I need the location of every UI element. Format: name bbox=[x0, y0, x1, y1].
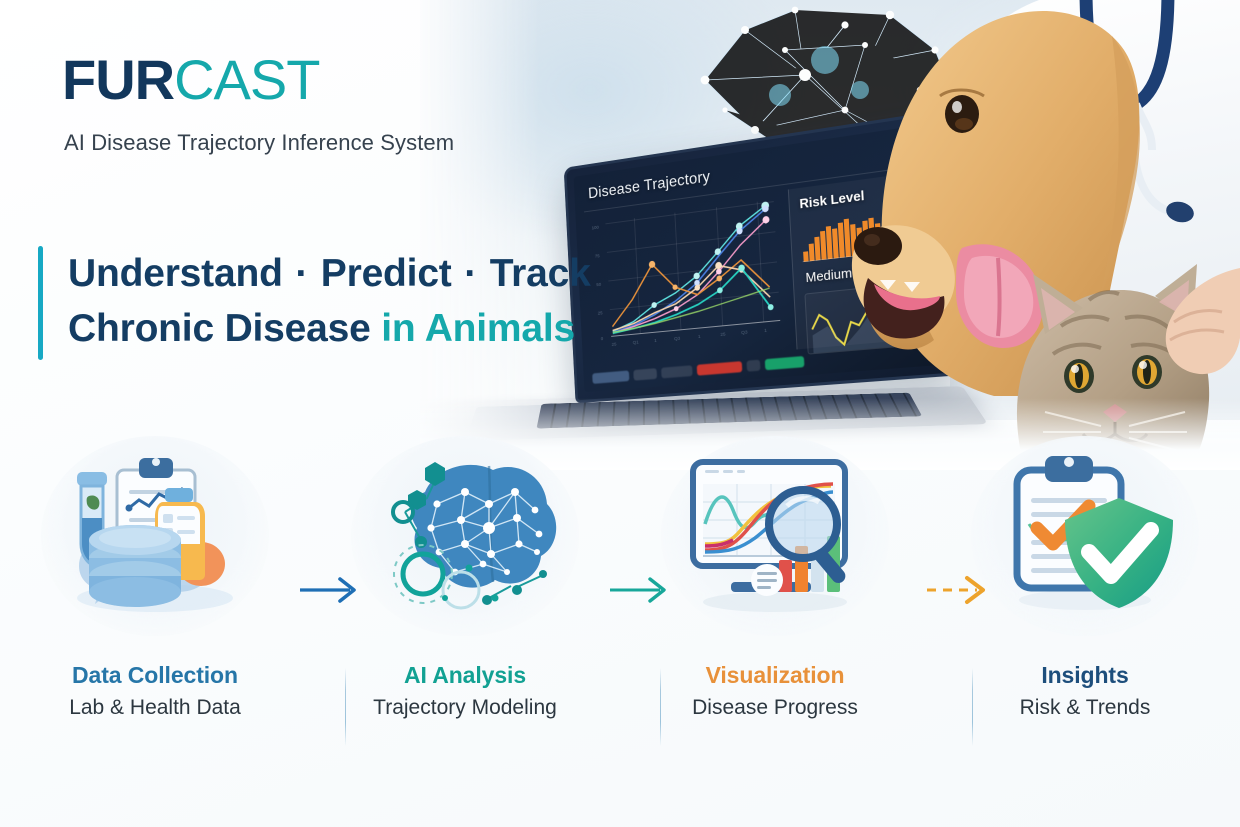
arrow-ai-to-visualization bbox=[608, 570, 678, 610]
feature-divider-2 bbox=[660, 668, 661, 746]
footer-chip-3[interactable] bbox=[661, 365, 693, 378]
feature-title: Data Collection bbox=[0, 662, 310, 689]
arrow-visualization-to-insights bbox=[925, 570, 999, 610]
svg-text:25: 25 bbox=[720, 331, 726, 338]
arrow-data-to-ai bbox=[298, 570, 368, 610]
svg-text:1: 1 bbox=[654, 338, 657, 344]
feature-text: Visualization Disease Progress bbox=[620, 662, 930, 720]
headline-in-animals: in Animals bbox=[381, 307, 575, 350]
svg-text:75: 75 bbox=[595, 253, 600, 260]
headline-separator-2: · bbox=[462, 252, 479, 295]
brand-tagline: AI Disease Trajectory Inference System bbox=[64, 130, 454, 156]
brain-network-icon bbox=[365, 448, 565, 620]
svg-text:Q3: Q3 bbox=[741, 329, 748, 336]
lab-data-icon bbox=[55, 448, 255, 620]
feature-text: Data Collection Lab & Health Data bbox=[0, 662, 310, 720]
feature-title: Visualization bbox=[620, 662, 930, 689]
brand-logo: FURCAST bbox=[62, 52, 319, 108]
headline-separator-1: · bbox=[293, 252, 310, 295]
footer-chip-red[interactable] bbox=[697, 361, 743, 376]
headline-word-track: Track bbox=[490, 252, 591, 295]
svg-text:0: 0 bbox=[601, 336, 604, 342]
svg-text:25: 25 bbox=[611, 341, 616, 347]
footer-chip-4[interactable] bbox=[746, 359, 760, 371]
monitor-chart-magnifier-icon bbox=[675, 448, 875, 620]
feature-title: AI Analysis bbox=[310, 662, 620, 689]
svg-text:1: 1 bbox=[764, 328, 767, 335]
feature-text: AI Analysis Trajectory Modeling bbox=[310, 662, 620, 720]
feature-divider-3 bbox=[972, 668, 973, 746]
headline: Understand · Predict · Track Chronic Dis… bbox=[68, 246, 591, 357]
svg-text:Q3: Q3 bbox=[674, 336, 681, 343]
headline-word-understand: Understand bbox=[68, 252, 283, 295]
headline-line-1: Understand · Predict · Track bbox=[68, 246, 591, 301]
svg-text:50: 50 bbox=[596, 282, 601, 289]
screen-chart-title: Disease Trajectory bbox=[588, 168, 711, 203]
feature-title: Insights bbox=[930, 662, 1240, 689]
brand-name-part1: FUR bbox=[62, 48, 174, 111]
feature-subtitle: Risk & Trends bbox=[930, 696, 1240, 720]
footer-chip-1[interactable] bbox=[592, 370, 629, 383]
brand-name-part2: CAST bbox=[174, 48, 319, 111]
feature-row: Data Collection Lab & Health Data bbox=[0, 430, 1240, 827]
feature-data-collection[interactable]: Data Collection Lab & Health Data bbox=[0, 430, 310, 760]
svg-text:Q1: Q1 bbox=[633, 339, 640, 346]
disease-trajectory-chart: 10075 50250 bbox=[586, 193, 788, 361]
headline-chronic-disease: Chronic Disease bbox=[68, 307, 371, 350]
svg-text:100: 100 bbox=[592, 224, 600, 231]
feature-subtitle: Trajectory Modeling bbox=[310, 696, 620, 720]
footer-chip-green[interactable] bbox=[765, 355, 805, 369]
headline-accent-bar bbox=[38, 246, 43, 360]
hero-photo: Disease Trajectory bbox=[420, 0, 1240, 470]
feature-subtitle: Lab & Health Data bbox=[0, 696, 310, 720]
feature-text: Insights Risk & Trends bbox=[930, 662, 1240, 720]
svg-text:25: 25 bbox=[598, 310, 603, 317]
headline-line-2: Chronic Disease in Animals bbox=[68, 301, 591, 356]
clipboard-shield-check-icon bbox=[985, 448, 1185, 620]
footer-chip-2[interactable] bbox=[633, 368, 657, 381]
svg-text:1: 1 bbox=[698, 334, 701, 340]
headline-word-predict: Predict bbox=[321, 252, 452, 295]
feature-subtitle: Disease Progress bbox=[620, 696, 930, 720]
veterinarian-hand bbox=[1130, 268, 1240, 388]
feature-divider-1 bbox=[345, 668, 346, 746]
